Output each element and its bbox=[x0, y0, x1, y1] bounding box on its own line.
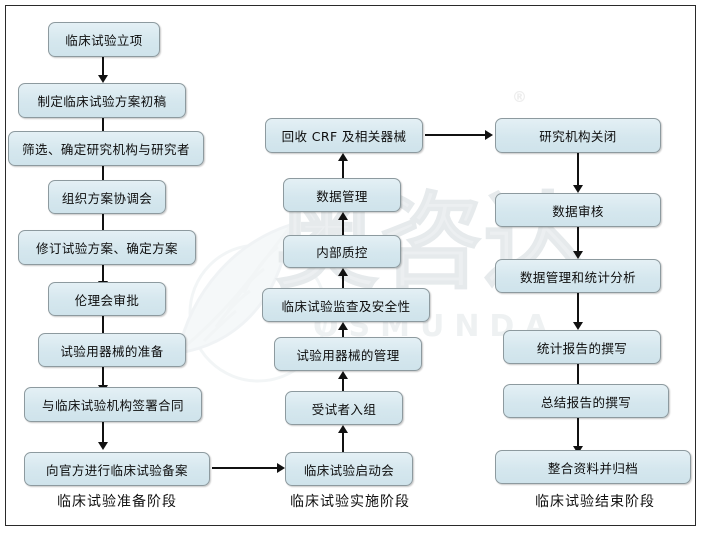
flow-arrow-up bbox=[338, 425, 349, 453]
step-label: 与临床试验机构签署合同 bbox=[42, 395, 184, 414]
phase-caption-preparation: 临床试验准备阶段 bbox=[10, 491, 224, 511]
step-label: 数据审核 bbox=[552, 201, 604, 220]
step-label: 统计报告的撰写 bbox=[537, 338, 627, 357]
step-box[interactable]: 数据管理和统计分析 bbox=[495, 259, 661, 293]
flow-arrow-down bbox=[573, 293, 584, 330]
step-box[interactable]: 与临床试验机构签署合同 bbox=[24, 387, 202, 422]
phase-caption-closeout: 临床试验结束阶段 bbox=[500, 491, 690, 511]
step-label: 筛选、确定研究机构与研究者 bbox=[22, 139, 190, 158]
step-box[interactable]: 组织方案协调会 bbox=[48, 180, 166, 214]
flowchart-canvas: 奥咨达 OSMUNDA ® 临床试验立项 制定临床试验方案初稿 筛选、确定研究机… bbox=[0, 0, 703, 533]
flow-arrow-up bbox=[338, 212, 349, 235]
step-box[interactable]: 研究机构关闭 bbox=[495, 118, 661, 153]
step-label: 回收 CRF 及相关器械 bbox=[282, 126, 407, 145]
flow-arrow-down bbox=[98, 57, 109, 83]
step-box[interactable]: 整合资料并归档 bbox=[495, 450, 691, 484]
flow-arrow-up bbox=[338, 153, 349, 178]
step-label: 临床试验立项 bbox=[65, 30, 142, 49]
flow-arrow-down bbox=[573, 418, 584, 454]
step-box[interactable]: 试验用器械的准备 bbox=[38, 333, 186, 367]
step-box[interactable]: 向官方进行临床试验备案 bbox=[24, 452, 210, 486]
step-label: 试验用器械的管理 bbox=[296, 345, 399, 364]
step-box[interactable]: 筛选、确定研究机构与研究者 bbox=[8, 131, 204, 166]
step-label: 研究机构关闭 bbox=[539, 126, 616, 145]
step-label: 数据管理 bbox=[316, 186, 368, 205]
step-box[interactable]: 受试者入组 bbox=[285, 391, 403, 425]
flow-arrow-down bbox=[573, 227, 584, 259]
step-box[interactable]: 临床试验监查及安全性 bbox=[262, 288, 430, 322]
step-box[interactable]: 统计报告的撰写 bbox=[503, 330, 661, 364]
step-label: 数据管理和统计分析 bbox=[520, 267, 636, 286]
step-box[interactable]: 内部质控 bbox=[283, 235, 401, 268]
step-label: 制定临床试验方案初稿 bbox=[37, 91, 166, 110]
cross-link-arrow-exec-to-closeout bbox=[425, 130, 493, 141]
phase-caption-execution: 临床试验实施阶段 bbox=[264, 491, 436, 511]
step-box[interactable]: 临床试验启动会 bbox=[285, 452, 413, 486]
flow-arrow-down bbox=[98, 422, 109, 450]
step-box[interactable]: 数据管理 bbox=[283, 178, 401, 212]
step-box[interactable]: 数据审核 bbox=[495, 193, 661, 227]
step-label: 组织方案协调会 bbox=[62, 188, 152, 207]
step-box[interactable]: 伦理会审批 bbox=[48, 282, 166, 316]
flow-arrow-up bbox=[338, 268, 349, 290]
step-label: 整合资料并归档 bbox=[548, 458, 638, 477]
step-label: 修订试验方案、确定方案 bbox=[36, 238, 178, 257]
step-box[interactable]: 临床试验立项 bbox=[48, 22, 160, 57]
step-box[interactable]: 制定临床试验方案初稿 bbox=[18, 83, 186, 118]
step-label: 临床试验监查及安全性 bbox=[281, 296, 410, 315]
step-box[interactable]: 回收 CRF 及相关器械 bbox=[265, 118, 423, 153]
step-label: 总结报告的撰写 bbox=[541, 392, 631, 411]
step-label: 临床试验启动会 bbox=[304, 460, 394, 479]
step-label: 向官方进行临床试验备案 bbox=[46, 460, 188, 479]
cross-link-arrow-prep-to-exec bbox=[212, 463, 285, 474]
step-box[interactable]: 总结报告的撰写 bbox=[503, 384, 669, 418]
step-label: 伦理会审批 bbox=[75, 290, 140, 309]
step-box[interactable]: 试验用器械的管理 bbox=[274, 337, 422, 371]
step-label: 内部质控 bbox=[316, 242, 368, 261]
step-label: 受试者入组 bbox=[312, 399, 377, 418]
step-label: 试验用器械的准备 bbox=[60, 341, 163, 360]
step-box[interactable]: 修订试验方案、确定方案 bbox=[18, 230, 196, 265]
flow-arrow-down bbox=[573, 153, 584, 193]
